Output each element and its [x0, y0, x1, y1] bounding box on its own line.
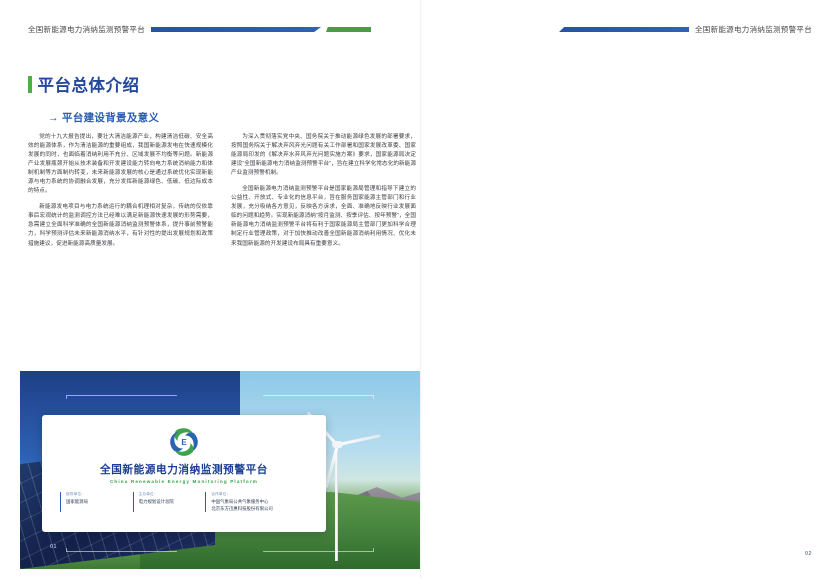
credit-label: 合作单位：	[211, 492, 308, 497]
left-page: 全国新能源电力消纳监测预警平台 平台总体介绍 → 平台建设背景及意义 党的十九大…	[0, 0, 420, 579]
credit-label: 主办单位：	[139, 492, 206, 497]
subsection-heading: → 平台建设背景及意义	[48, 110, 159, 125]
hero-title-card: E 全国新能源电力消纳监测预警平台 China Renewable Energy…	[42, 415, 326, 532]
platform-logo: E	[42, 424, 326, 460]
page-title: 平台总体介绍	[28, 72, 140, 96]
credits-row: 指导单位： 国家能源局 主办单位： 电力规划设计总院 合作单位： 中国气象局公共…	[60, 492, 308, 513]
logo-letter: E	[181, 438, 186, 447]
header-rule-green	[326, 27, 371, 32]
running-head-left: 全国新能源电力消纳监测预警平台	[28, 24, 371, 35]
credit-value: 中国气象局公共气象服务中心 北京东方迅惠科技股份有限公司	[211, 499, 308, 512]
running-head-right-text: 全国新能源电力消纳监测预警平台	[695, 24, 812, 35]
credit-item: 指导单位： 国家能源局	[60, 492, 133, 513]
body-column-1: 党的十九大报告提出，要壮大清洁能源产业，构建清洁低碳、安全高效的能源体系，作为清…	[28, 133, 213, 256]
brochure-spread: 全国新能源电力消纳监测预警平台 平台总体介绍 → 平台建设背景及意义 党的十九大…	[0, 0, 840, 579]
page-title-text: 平台总体介绍	[38, 72, 140, 96]
page-gutter-shadow	[420, 0, 422, 579]
credit-item: 主办单位： 电力规划设计总院	[133, 492, 206, 513]
paragraph: 新能源发电项目与电力系统运行的耦合机理相对复杂，传统的仅依靠事后宏观统计的监测调…	[28, 203, 213, 248]
body-columns: 党的十九大报告提出，要壮大清洁能源产业，构建清洁低碳、安全高效的能源体系，作为清…	[28, 133, 416, 256]
credit-value: 国家能源局	[66, 499, 133, 506]
credit-value: 电力规划设计总院	[139, 499, 206, 506]
header-rule-blue	[559, 27, 689, 32]
hero-card-subtitle: China Renewable Energy Monitoring Platfo…	[42, 479, 326, 484]
turbine-hub	[332, 441, 343, 448]
page-number-right: 02	[805, 551, 812, 557]
hero-card-title: 全国新能源电力消纳监测预警平台	[42, 462, 326, 477]
paragraph: 党的十九大报告提出，要壮大清洁能源产业，构建清洁低碳、安全高效的能源体系，作为清…	[28, 133, 213, 196]
credit-item: 合作单位： 中国气象局公共气象服务中心 北京东方迅惠科技股份有限公司	[205, 492, 308, 513]
page-number-left: 01	[50, 544, 57, 550]
header-rule-blue	[151, 27, 321, 32]
body-column-2: 为深入贯彻落实党中央、国务院关于推动能源绿色发展的部署要求，按照国务院关于解决弃…	[231, 133, 416, 256]
running-head-right: 全国新能源电力消纳监测预警平台	[559, 24, 812, 35]
running-head-left-text: 全国新能源电力消纳监测预警平台	[28, 24, 145, 35]
title-accent-bar	[28, 76, 32, 93]
credit-label: 指导单位：	[66, 492, 133, 497]
hero-photo-banner: E 全国新能源电力消纳监测预警平台 China Renewable Energy…	[20, 371, 420, 569]
paragraph: 为深入贯彻落实党中央、国务院关于推动能源绿色发展的部署要求，按照国务院关于解决弃…	[231, 133, 416, 178]
right-page: 全国新能源电力消纳监测预警平台 新能源 消纳 充分发挥新能源发电的 绿色低碳的价…	[420, 0, 840, 579]
turbine-mast	[335, 443, 338, 561]
paragraph: 全国新能源电力消纳监测预警平台是国家能源局管理和指导下建立的公益性、开放式、专业…	[231, 185, 416, 248]
recycle-logo-icon: E	[167, 425, 201, 459]
